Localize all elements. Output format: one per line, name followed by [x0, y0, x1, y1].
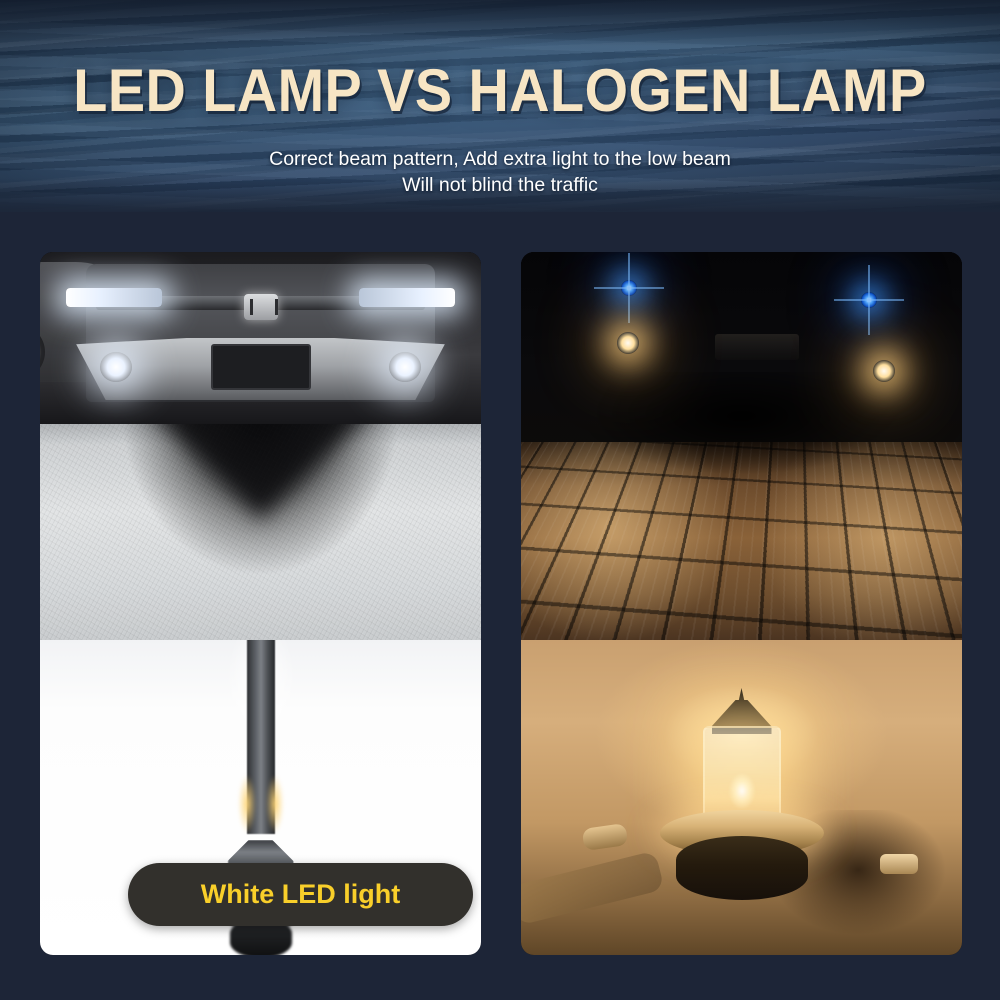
- halogen-connector-wire: [521, 850, 665, 925]
- page-title: LED LAMP VS HALOGEN LAMP: [35, 56, 965, 125]
- badge-white-led-light: White LED light: [128, 863, 473, 926]
- led-chip-array: [236, 758, 286, 850]
- comparison-panels: White LED light: [0, 212, 1000, 1000]
- subtitle-line-1: Correct beam pattern, Add extra light to…: [269, 148, 731, 170]
- led-road-photo: [40, 252, 481, 640]
- halogen-night-scene: [521, 252, 962, 640]
- badge-white-led-label: White LED light: [201, 879, 400, 910]
- halogen-car-silhouette: [565, 372, 918, 482]
- halogen-road-photo: [521, 252, 962, 640]
- subtitle-line-2: Will not blind the traffic: [0, 172, 1000, 198]
- car-hood-dark-area: [40, 252, 481, 424]
- product-comparison-image: LED LAMP VS HALOGEN LAMP Correct beam pa…: [0, 0, 1000, 1000]
- led-fog-light-right: [389, 352, 421, 382]
- halogen-fog-light-right: [873, 360, 895, 382]
- header-top-fade: [0, 0, 1000, 46]
- halogen-fog-light-left: [617, 332, 639, 354]
- halogen-base-tab-right: [880, 854, 918, 874]
- panel-halogen: yellow halogen lamp: [521, 252, 962, 955]
- blue-accent-light-right: [861, 292, 877, 308]
- page-subtitle: Correct beam pattern, Add extra light to…: [0, 146, 1000, 198]
- halogen-filament-glow: [725, 768, 759, 810]
- led-headlight-right: [359, 288, 455, 307]
- blue-accent-light-left: [621, 280, 637, 296]
- panel-led: White LED light: [40, 252, 481, 955]
- halogen-license-plate: [715, 334, 799, 360]
- license-plate: [211, 344, 311, 390]
- halogen-base-body: [676, 836, 808, 900]
- halogen-base-tab-left: [581, 823, 628, 851]
- halogen-bulb-photo: [521, 640, 962, 955]
- honda-logo-icon: [244, 294, 278, 320]
- car-wheel: [40, 324, 45, 380]
- led-night-scene: [40, 252, 481, 640]
- led-headlight-left: [66, 288, 162, 307]
- halogen-bulb-amber-backdrop: [521, 640, 962, 955]
- header-banner: LED LAMP VS HALOGEN LAMP Correct beam pa…: [0, 0, 1000, 212]
